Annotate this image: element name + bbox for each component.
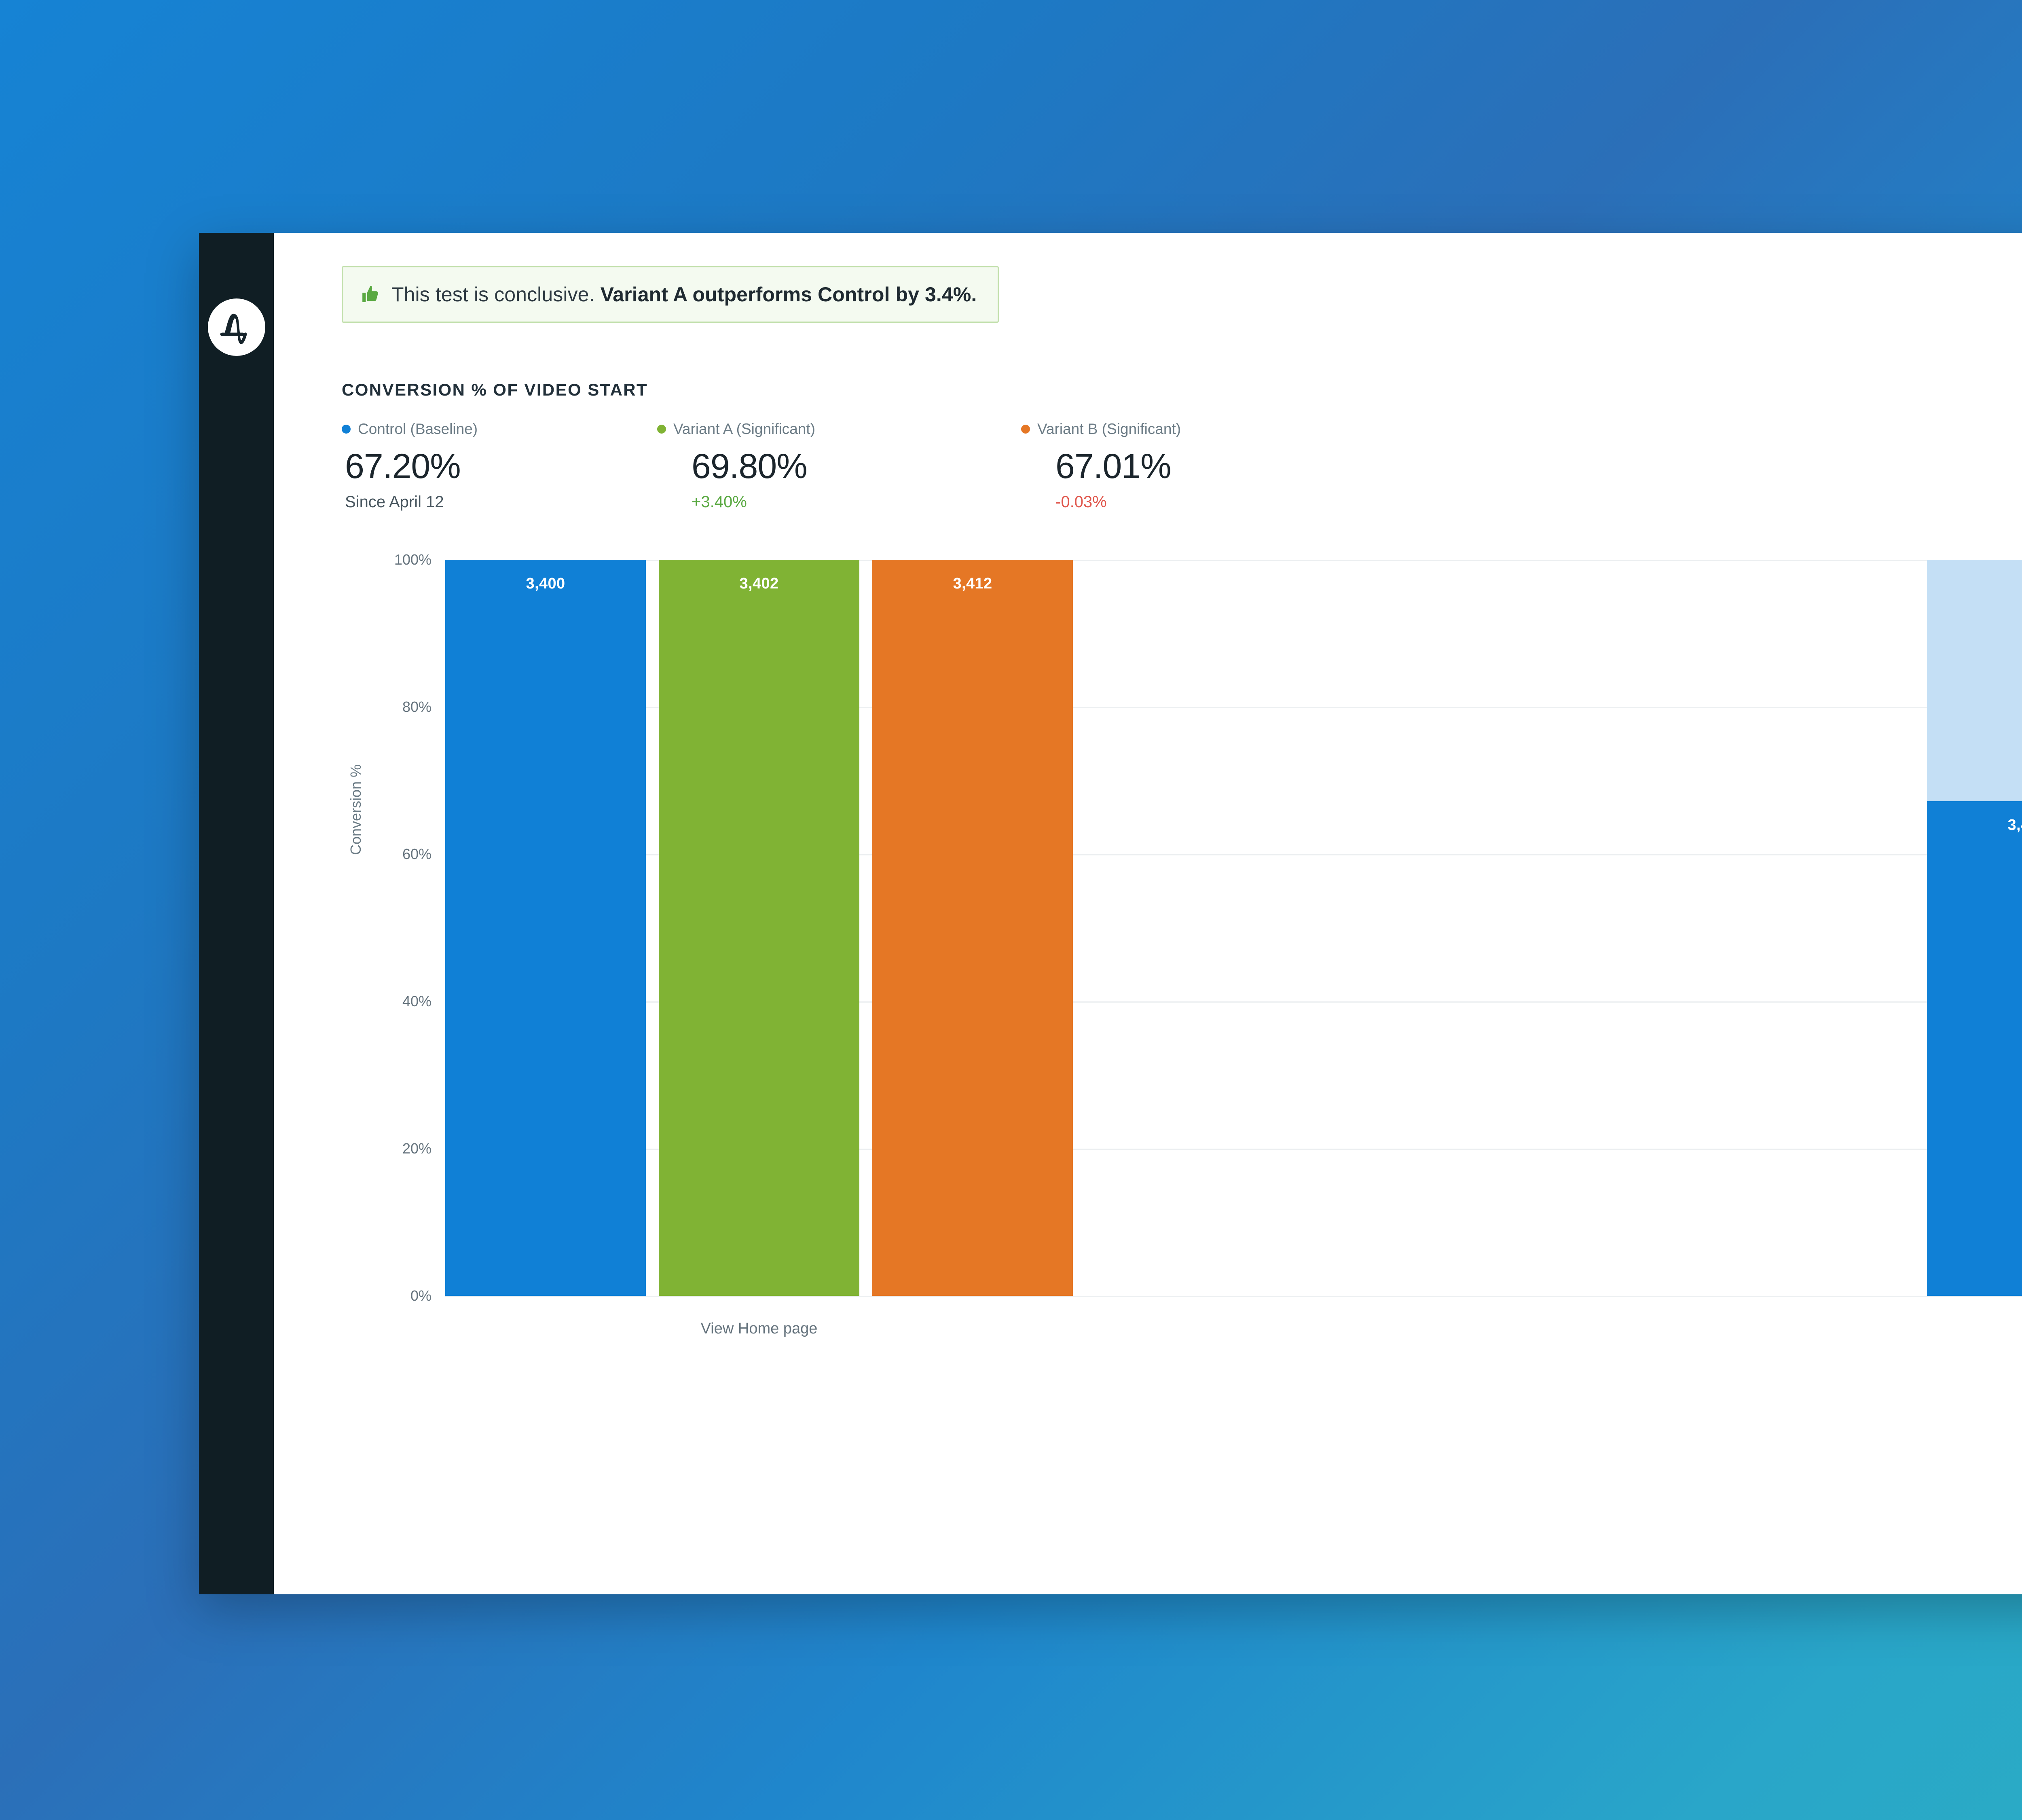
metric-value-control: 67.20% bbox=[342, 447, 657, 487]
y-axis-tick: 60% bbox=[402, 846, 431, 863]
legend-dot-control bbox=[342, 425, 351, 434]
bar-value-label: 3,402 bbox=[739, 575, 778, 1296]
plot-area: 0%20%40%60%80%100% 3,4003,4023,4123,4003… bbox=[445, 560, 2022, 1296]
metric-sub-variant-a: +3.40% bbox=[657, 493, 1021, 511]
bar-value-label: 3,400 bbox=[2007, 817, 2022, 1296]
amplitude-logo-icon[interactable] bbox=[208, 298, 265, 356]
main-content: This test is conclusive. Variant A outpe… bbox=[274, 233, 2022, 1594]
legend-dot-variant-a bbox=[657, 425, 666, 434]
legend-control[interactable]: Control (Baseline) bbox=[342, 421, 657, 438]
bar[interactable]: 3,412 bbox=[872, 560, 1073, 1296]
gridline: 0% bbox=[445, 1296, 2022, 1297]
metric-value-variant-b: 67.01% bbox=[1021, 447, 1385, 487]
y-axis-tick: 0% bbox=[410, 1287, 431, 1304]
bar-segment-remainder bbox=[1927, 560, 2022, 801]
conversion-bar-chart: Conversion % 0%20%40%60%80%100% 3,4003,4… bbox=[342, 560, 2022, 1352]
bars-layer: 3,4003,4023,4123,4003,4023,412 bbox=[445, 560, 2022, 1296]
legend-dot-variant-b bbox=[1021, 425, 1030, 434]
legend-label-variant-b: Variant B (Significant) bbox=[1037, 421, 1181, 438]
banner-text: This test is conclusive. Variant A outpe… bbox=[391, 283, 977, 306]
legend-variant-a[interactable]: Variant A (Significant) bbox=[657, 421, 1021, 438]
bar-segment-value: 3,412 bbox=[872, 560, 1073, 1296]
y-axis-tick: 80% bbox=[402, 698, 431, 715]
legend-label-control: Control (Baseline) bbox=[358, 421, 478, 438]
page-title: Conversion % of Video Start bbox=[342, 380, 2022, 400]
bar[interactable]: 3,402 bbox=[659, 560, 859, 1296]
bar-segment-value: 3,402 bbox=[659, 560, 859, 1296]
bar[interactable]: 3,400 bbox=[1927, 560, 2022, 1296]
metric-sub-control: Since April 12 bbox=[342, 493, 657, 511]
metric-variant-a: Variant A (Significant) 69.80% +3.40% bbox=[657, 421, 1021, 511]
banner-text-lead: This test is conclusive. bbox=[391, 283, 595, 306]
y-axis-tick: 40% bbox=[402, 993, 431, 1010]
left-nav-rail bbox=[199, 233, 274, 1594]
bar-value-label: 3,400 bbox=[526, 575, 565, 1296]
metric-variant-b: Variant B (Significant) 67.01% -0.03% bbox=[1021, 421, 1385, 511]
bar-value-label: 3,412 bbox=[953, 575, 992, 1296]
bar-segment-value: 3,400 bbox=[1927, 801, 2022, 1296]
bar-segment-value: 3,400 bbox=[445, 560, 646, 1296]
metric-sub-variant-b: -0.03% bbox=[1021, 493, 1385, 511]
banner-text-bold: Variant A outperforms Control by 3.4%. bbox=[601, 283, 977, 306]
legend-label-variant-a: Variant A (Significant) bbox=[673, 421, 815, 438]
y-axis-title: Conversion % bbox=[347, 764, 364, 855]
bar[interactable]: 3,400 bbox=[445, 560, 646, 1296]
y-axis-tick: 20% bbox=[402, 1140, 431, 1157]
x-axis-category-label: View Home page bbox=[701, 1320, 818, 1337]
app-window: This test is conclusive. Variant A outpe… bbox=[199, 233, 2022, 1594]
legend-variant-b[interactable]: Variant B (Significant) bbox=[1021, 421, 1385, 438]
metric-control: Control (Baseline) 67.20% Since April 12 bbox=[342, 421, 657, 511]
metrics-row: Control (Baseline) 67.20% Since April 12… bbox=[342, 421, 2022, 511]
y-axis-tick: 100% bbox=[394, 551, 431, 568]
conclusive-banner: This test is conclusive. Variant A outpe… bbox=[342, 266, 999, 323]
metric-value-variant-a: 69.80% bbox=[657, 447, 1021, 487]
thumbs-up-icon bbox=[361, 284, 381, 305]
